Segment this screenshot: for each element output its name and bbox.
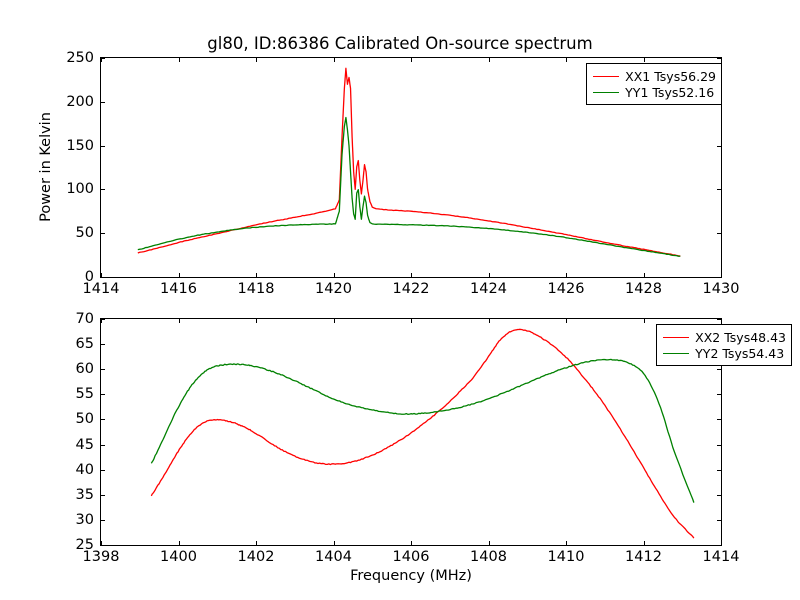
x-tick-mark: [334, 58, 335, 62]
y-tick-mark: [717, 495, 721, 496]
x-tick-mark: [721, 541, 722, 545]
line-swatch-icon: [663, 353, 689, 354]
x-tick-mark: [179, 58, 180, 62]
y-tick-mark: [717, 233, 721, 234]
y-tick-label: 45: [42, 437, 94, 453]
x-tick-label: 1404: [315, 549, 352, 565]
x-tick-mark: [256, 541, 257, 545]
x-tick-mark: [644, 541, 645, 545]
x-tick-mark: [256, 273, 257, 277]
x-tick-label: 1406: [393, 549, 430, 565]
x-tick-mark: [489, 273, 490, 277]
y-tick-mark: [717, 189, 721, 190]
y-tick-mark: [101, 394, 105, 395]
y-tick-mark: [717, 58, 721, 59]
x-tick-mark: [644, 273, 645, 277]
y-tick-mark: [101, 419, 105, 420]
legend-label: YY1 Tsys52.16: [625, 85, 714, 100]
top-y-axis-label: Power in Kelvin: [38, 112, 54, 222]
x-tick-mark: [179, 273, 180, 277]
y-tick-mark: [717, 520, 721, 521]
y-tick-mark: [717, 545, 721, 546]
x-tick-mark: [334, 319, 335, 323]
x-tick-mark: [721, 319, 722, 323]
legend-item: XX1 Tsys56.29: [591, 68, 716, 84]
x-tick-mark: [489, 319, 490, 323]
bottom-spectrum-axes: [100, 318, 722, 546]
x-tick-label: 1430: [703, 281, 740, 297]
line-swatch-icon: [593, 92, 619, 93]
matplotlib-figure: gl80, ID:86386 Calibrated On-source spec…: [0, 0, 800, 600]
y-tick-label: 60: [42, 361, 94, 377]
y-tick-mark: [101, 545, 105, 546]
y-tick-label: 30: [42, 512, 94, 528]
x-tick-mark: [721, 58, 722, 62]
legend-item: YY1 Tsys52.16: [591, 84, 716, 100]
x-tick-mark: [566, 319, 567, 323]
x-tick-mark: [256, 58, 257, 62]
legend-label: XX1 Tsys56.29: [625, 69, 716, 84]
x-tick-label: 1416: [160, 281, 197, 297]
y-tick-label: 0: [42, 269, 94, 285]
x-tick-label: 1400: [160, 549, 197, 565]
legend-item: YY2 Tsys54.43: [661, 345, 786, 361]
y-tick-mark: [717, 146, 721, 147]
x-tick-mark: [721, 273, 722, 277]
figure-title: gl80, ID:86386 Calibrated On-source spec…: [0, 34, 800, 53]
y-tick-mark: [101, 495, 105, 496]
x-tick-mark: [566, 58, 567, 62]
y-tick-mark: [101, 189, 105, 190]
x-tick-mark: [256, 319, 257, 323]
x-tick-label: 1412: [625, 549, 662, 565]
x-tick-label: 1420: [315, 281, 352, 297]
y-tick-mark: [717, 319, 721, 320]
y-tick-mark: [717, 277, 721, 278]
y-tick-mark: [101, 277, 105, 278]
x-tick-mark: [334, 541, 335, 545]
data-series-line: [138, 118, 681, 257]
line-swatch-icon: [593, 76, 619, 77]
top-legend: XX1 Tsys56.29 YY1 Tsys52.16: [586, 63, 722, 105]
y-tick-mark: [717, 394, 721, 395]
data-series-line: [151, 359, 694, 502]
x-tick-label: 1408: [470, 549, 507, 565]
y-tick-mark: [101, 233, 105, 234]
y-tick-mark: [101, 146, 105, 147]
y-tick-mark: [717, 369, 721, 370]
y-tick-mark: [101, 102, 105, 103]
y-tick-label: 65: [42, 336, 94, 352]
x-tick-mark: [566, 541, 567, 545]
y-tick-mark: [101, 344, 105, 345]
legend-item: XX2 Tsys48.43: [661, 329, 786, 345]
y-tick-label: 40: [42, 462, 94, 478]
x-tick-mark: [179, 541, 180, 545]
x-tick-mark: [644, 319, 645, 323]
x-tick-mark: [644, 58, 645, 62]
x-tick-mark: [411, 58, 412, 62]
x-tick-mark: [411, 273, 412, 277]
y-tick-mark: [101, 319, 105, 320]
x-tick-mark: [334, 273, 335, 277]
y-tick-mark: [101, 520, 105, 521]
y-tick-label: 35: [42, 487, 94, 503]
y-tick-label: 70: [42, 311, 94, 327]
y-tick-label: 200: [42, 94, 94, 110]
x-tick-mark: [411, 541, 412, 545]
y-tick-label: 250: [42, 50, 94, 66]
legend-label: XX2 Tsys48.43: [695, 330, 786, 345]
bottom-x-axis-label: Frequency (MHz): [350, 568, 472, 584]
x-tick-label: 1410: [548, 549, 585, 565]
y-tick-mark: [717, 470, 721, 471]
x-tick-label: 1402: [238, 549, 275, 565]
x-tick-mark: [566, 273, 567, 277]
y-tick-mark: [101, 369, 105, 370]
legend-label: YY2 Tsys54.43: [695, 346, 784, 361]
line-swatch-icon: [663, 337, 689, 338]
y-tick-mark: [717, 445, 721, 446]
x-tick-mark: [411, 319, 412, 323]
y-tick-label: 25: [42, 537, 94, 553]
y-tick-mark: [717, 419, 721, 420]
x-tick-mark: [179, 319, 180, 323]
x-tick-label: 1418: [238, 281, 275, 297]
x-tick-label: 1424: [470, 281, 507, 297]
x-tick-label: 1426: [548, 281, 585, 297]
x-tick-label: 1428: [625, 281, 662, 297]
x-tick-mark: [489, 541, 490, 545]
data-series-line: [151, 329, 694, 538]
x-tick-mark: [489, 58, 490, 62]
y-tick-label: 50: [42, 225, 94, 241]
y-tick-label: 55: [42, 386, 94, 402]
bottom-legend: XX2 Tsys48.43 YY2 Tsys54.43: [656, 324, 792, 366]
y-tick-mark: [101, 58, 105, 59]
y-tick-label: 50: [42, 411, 94, 427]
y-tick-mark: [101, 445, 105, 446]
y-tick-mark: [101, 470, 105, 471]
x-tick-label: 1422: [393, 281, 430, 297]
x-tick-label: 1414: [703, 549, 740, 565]
